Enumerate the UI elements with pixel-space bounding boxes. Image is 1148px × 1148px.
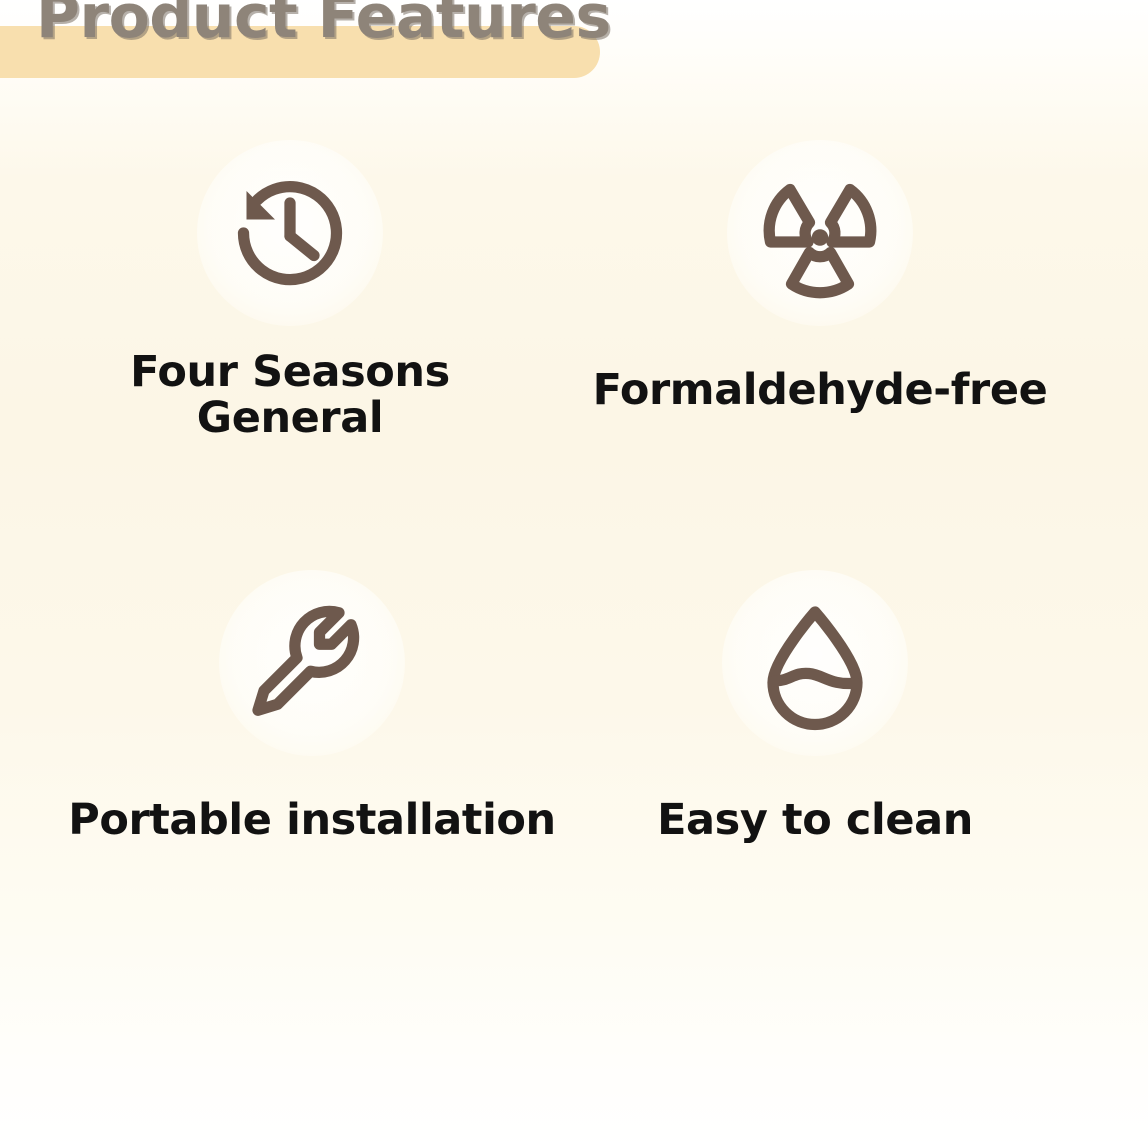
feature-item-easy-to-clean: Easy to clean (555, 570, 1075, 844)
feature-label-line1: Portable installation (68, 795, 556, 845)
wrench-icon (237, 588, 387, 738)
product-features-page: Product Features Four Seasons General (0, 0, 1148, 1148)
feature-label: Four Seasons General (30, 350, 550, 441)
page-title: Product Features (36, 0, 611, 49)
feature-item-portable-installation: Portable installation (52, 570, 572, 844)
feature-icon-badge (727, 140, 913, 326)
feature-icon-badge (722, 570, 908, 756)
feature-icon-badge (197, 140, 383, 326)
feature-label-line1: Four Seasons (130, 347, 450, 397)
feature-label-line1: Formaldehyde-free (593, 365, 1048, 415)
feature-icon-badge (219, 570, 405, 756)
radiation-icon (745, 158, 895, 308)
feature-label: Formaldehyde-free (560, 368, 1080, 414)
feature-item-formaldehyde-free: Formaldehyde-free (560, 140, 1080, 414)
feature-label-line1: Easy to clean (657, 795, 973, 845)
water-drop-icon (740, 588, 890, 738)
feature-item-four-seasons-general: Four Seasons General (30, 140, 550, 441)
feature-grid: Four Seasons General Formaldehyde-free (0, 120, 1148, 960)
feature-label-line2: General (197, 393, 383, 443)
feature-label: Portable installation (52, 798, 572, 844)
history-clock-icon (215, 158, 365, 308)
feature-label: Easy to clean (555, 798, 1075, 844)
